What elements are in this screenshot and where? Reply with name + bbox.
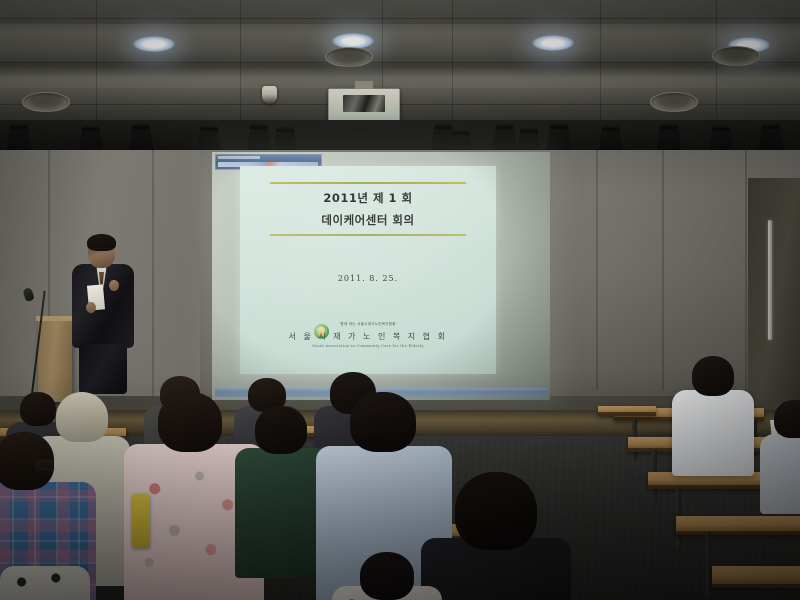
glasses-icon bbox=[34, 458, 54, 472]
side-door[interactable] bbox=[748, 178, 800, 403]
wall-seam bbox=[596, 150, 598, 390]
wall-seam bbox=[662, 150, 664, 390]
wall-seam bbox=[745, 150, 747, 400]
attendee-head bbox=[360, 552, 414, 600]
slide-date: 2011. 8. 25. bbox=[240, 274, 496, 283]
attendee-head bbox=[350, 392, 416, 452]
attendee-head bbox=[692, 356, 734, 396]
slide-title-line1: 2011년 제 1 회 bbox=[240, 190, 496, 206]
recessed-ceiling-fixture bbox=[650, 92, 698, 112]
recessed-ceiling-fixture bbox=[22, 92, 70, 112]
attendee-head bbox=[774, 400, 800, 438]
attendee-head bbox=[455, 472, 537, 550]
presenter-hand bbox=[109, 280, 119, 291]
slide-rule-bottom bbox=[270, 234, 466, 236]
logo-name-kr: 서 울 시 재 가 노 인 복 지 협 회 bbox=[289, 332, 448, 341]
recessed-ceiling-fixture bbox=[325, 47, 373, 67]
presenter bbox=[66, 236, 140, 392]
projection-screen: 2011년 제 1 회 데이케어센터 회의 2011. 8. 25. '함께 하… bbox=[212, 152, 550, 400]
dome-camera-icon bbox=[262, 86, 277, 104]
conference-room-photo: 2011년 제 1 회 데이케어센터 회의 2011. 8. 25. '함께 하… bbox=[0, 0, 800, 600]
ceiling-downlight bbox=[133, 36, 175, 52]
attendee-head bbox=[20, 392, 56, 426]
attendee-body bbox=[760, 434, 800, 514]
yellow-bag bbox=[132, 494, 150, 548]
projector-mount bbox=[355, 81, 373, 89]
logo-name-en: Seoul Association in Community Care for … bbox=[240, 345, 496, 349]
desk bbox=[712, 566, 800, 588]
glasses-icon bbox=[89, 248, 113, 254]
ceiling-projector bbox=[328, 88, 400, 124]
door-handle-icon[interactable] bbox=[768, 220, 772, 340]
attendee-head bbox=[56, 392, 108, 442]
projector-lens bbox=[343, 95, 385, 112]
presenter-hand bbox=[86, 302, 96, 313]
attendee-body bbox=[672, 390, 754, 476]
desk bbox=[598, 406, 656, 416]
slide-title-line2: 데이케어센터 회의 bbox=[240, 212, 496, 228]
recessed-ceiling-fixture bbox=[712, 46, 760, 66]
slide-rule-top bbox=[270, 182, 466, 184]
attendee-head bbox=[158, 392, 222, 452]
ceiling-downlight bbox=[532, 35, 574, 51]
logo-tagline: '함께 하는 서울시재가노인복지협회' bbox=[240, 322, 496, 326]
attendee-body bbox=[0, 566, 90, 600]
desk-leg bbox=[706, 532, 711, 598]
wall-seam bbox=[152, 150, 154, 400]
presenter-legs bbox=[79, 344, 127, 394]
attendee-head bbox=[255, 406, 307, 454]
presentation-slide: 2011년 제 1 회 데이케어센터 회의 2011. 8. 25. '함께 하… bbox=[240, 166, 496, 374]
association-logo-block: '함께 하는 서울시재가노인복지협회' 서 울 시 재 가 노 인 복 지 협 … bbox=[240, 322, 496, 348]
desk bbox=[676, 516, 800, 535]
